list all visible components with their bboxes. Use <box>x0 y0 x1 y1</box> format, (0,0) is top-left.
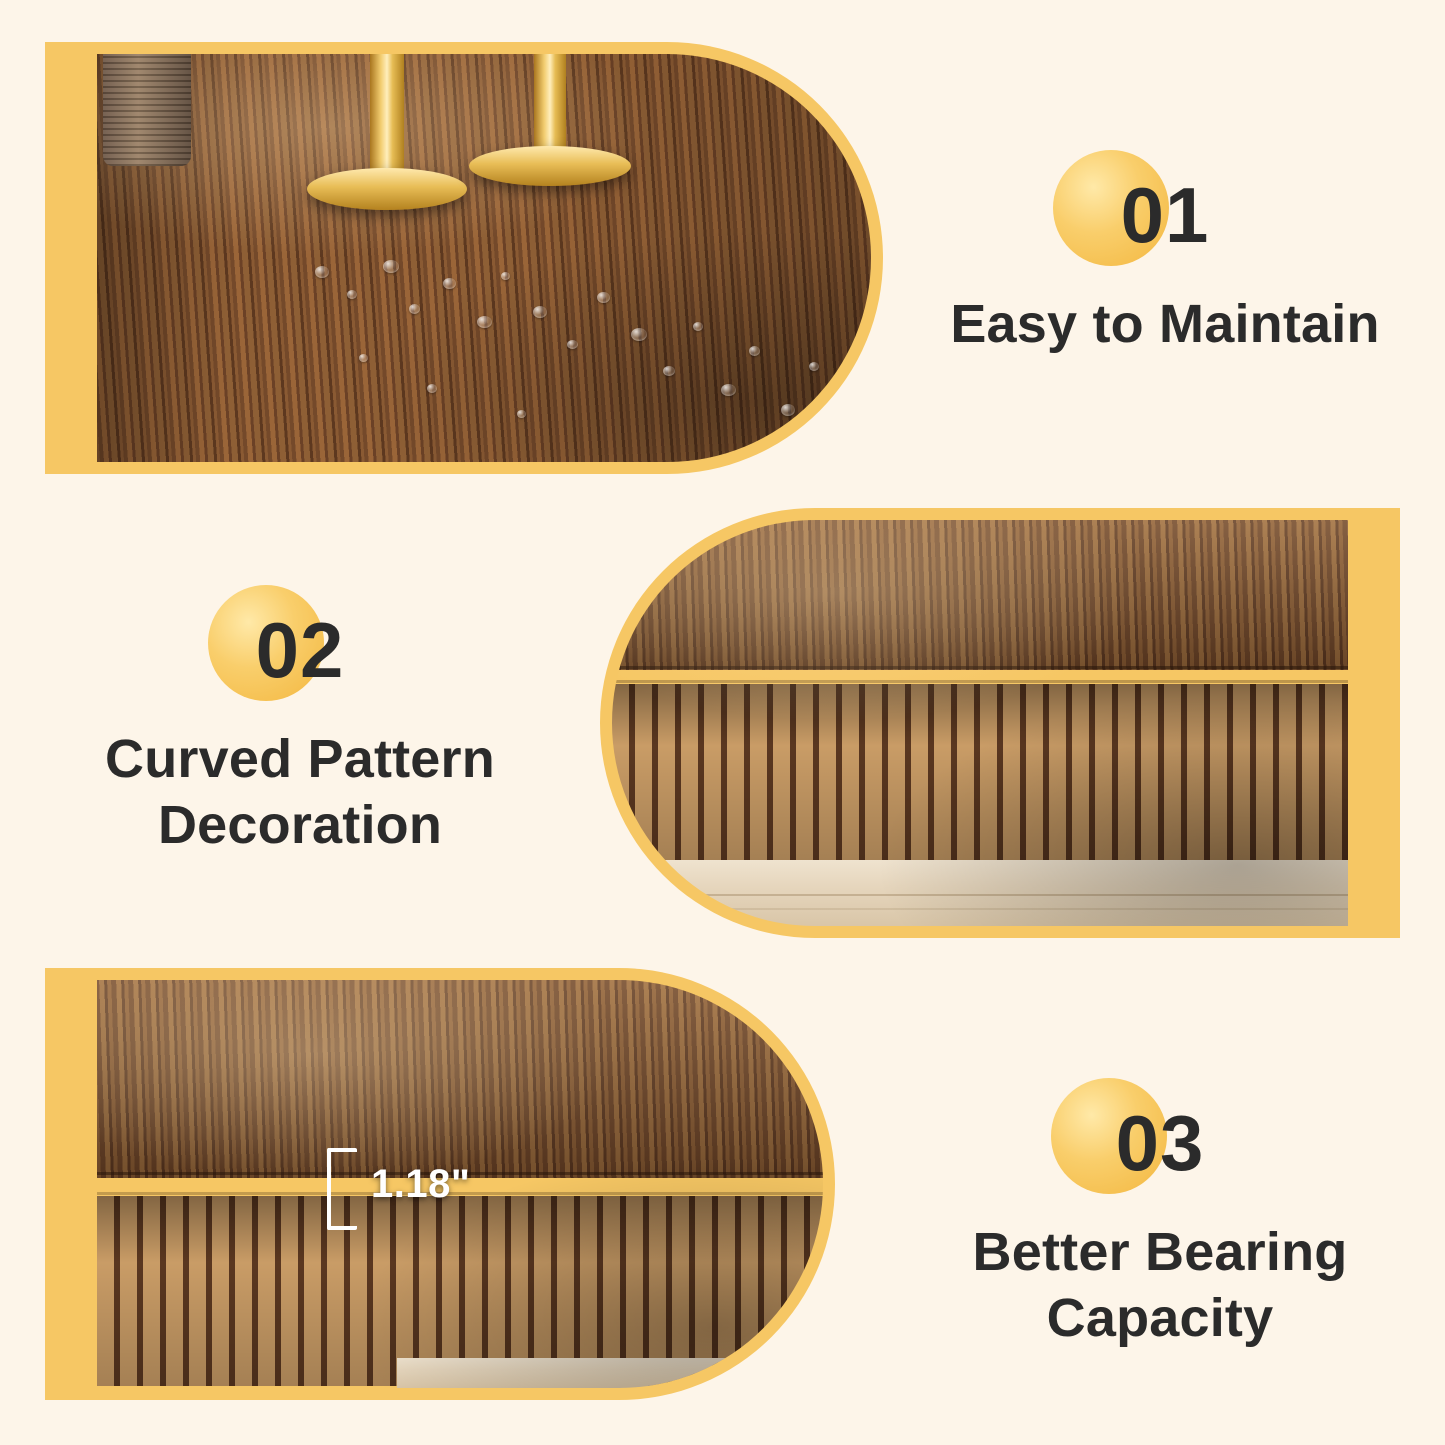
feature-text-block-02: 02 Curved Pattern Decoration <box>40 585 560 859</box>
feature-image-panel-01 <box>45 42 883 474</box>
feature-number-01: 01 <box>905 150 1425 254</box>
feature-text-block-01: 01 Easy to Maintain <box>905 150 1425 358</box>
feature-title-01: Easy to Maintain <box>905 292 1425 358</box>
feature-title-02: Curved Pattern Decoration <box>40 727 560 859</box>
gold-table-leg-right <box>469 54 631 202</box>
feature-photo-03: 1.18" <box>97 980 823 1388</box>
gold-table-leg-left <box>307 54 467 222</box>
infographic-canvas: 01 Easy to Maintain 02 Curved Pattern De… <box>0 0 1445 1445</box>
feature-photo-01 <box>97 54 871 462</box>
feature-number-02: 02 <box>40 585 560 689</box>
planter-pot <box>103 54 191 166</box>
feature-image-panel-02 <box>600 508 1400 938</box>
feature-image-panel-03: 1.18" <box>45 968 835 1400</box>
feature-title-03: Better Bearing Capacity <box>895 1220 1425 1352</box>
feature-photo-02 <box>612 520 1348 926</box>
feature-text-block-03: 03 Better Bearing Capacity <box>895 1078 1425 1352</box>
feature-number-03: 03 <box>895 1078 1425 1182</box>
